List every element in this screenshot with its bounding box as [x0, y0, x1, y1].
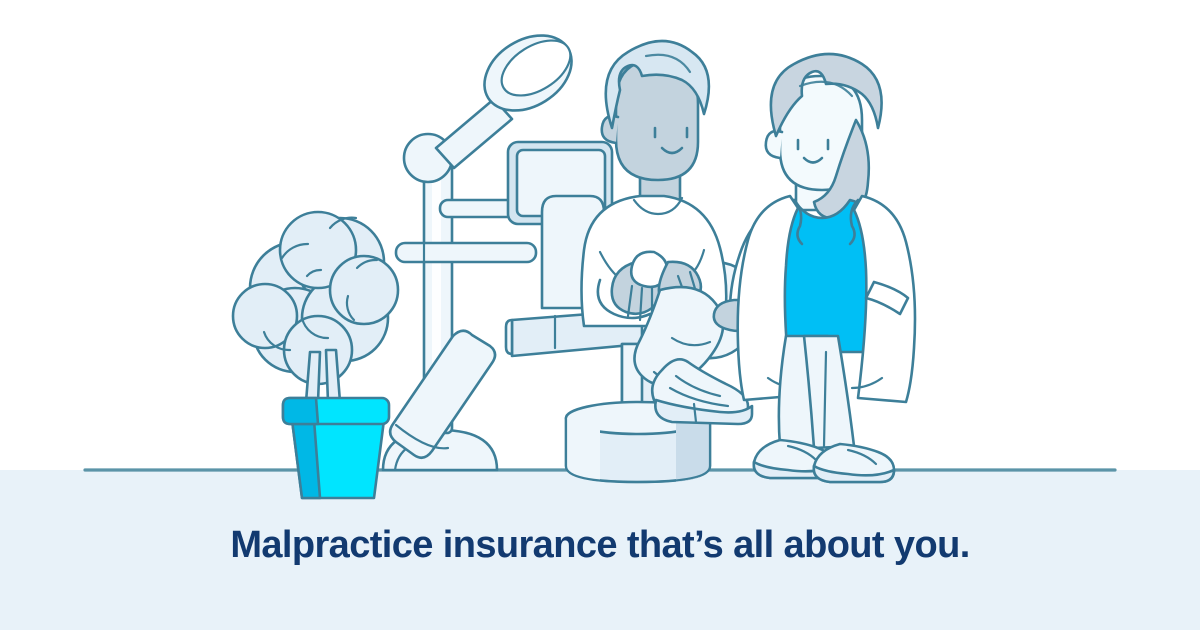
- clinic-illustration: .st { stroke:#3d7f99; stroke-width:2.6; …: [0, 0, 1200, 630]
- background-floor: [0, 470, 1200, 630]
- plant-pot: [283, 398, 389, 498]
- lamp-crossbar: [396, 243, 536, 262]
- banner: .st { stroke:#3d7f99; stroke-width:2.6; …: [0, 0, 1200, 630]
- patient-head: [602, 41, 709, 180]
